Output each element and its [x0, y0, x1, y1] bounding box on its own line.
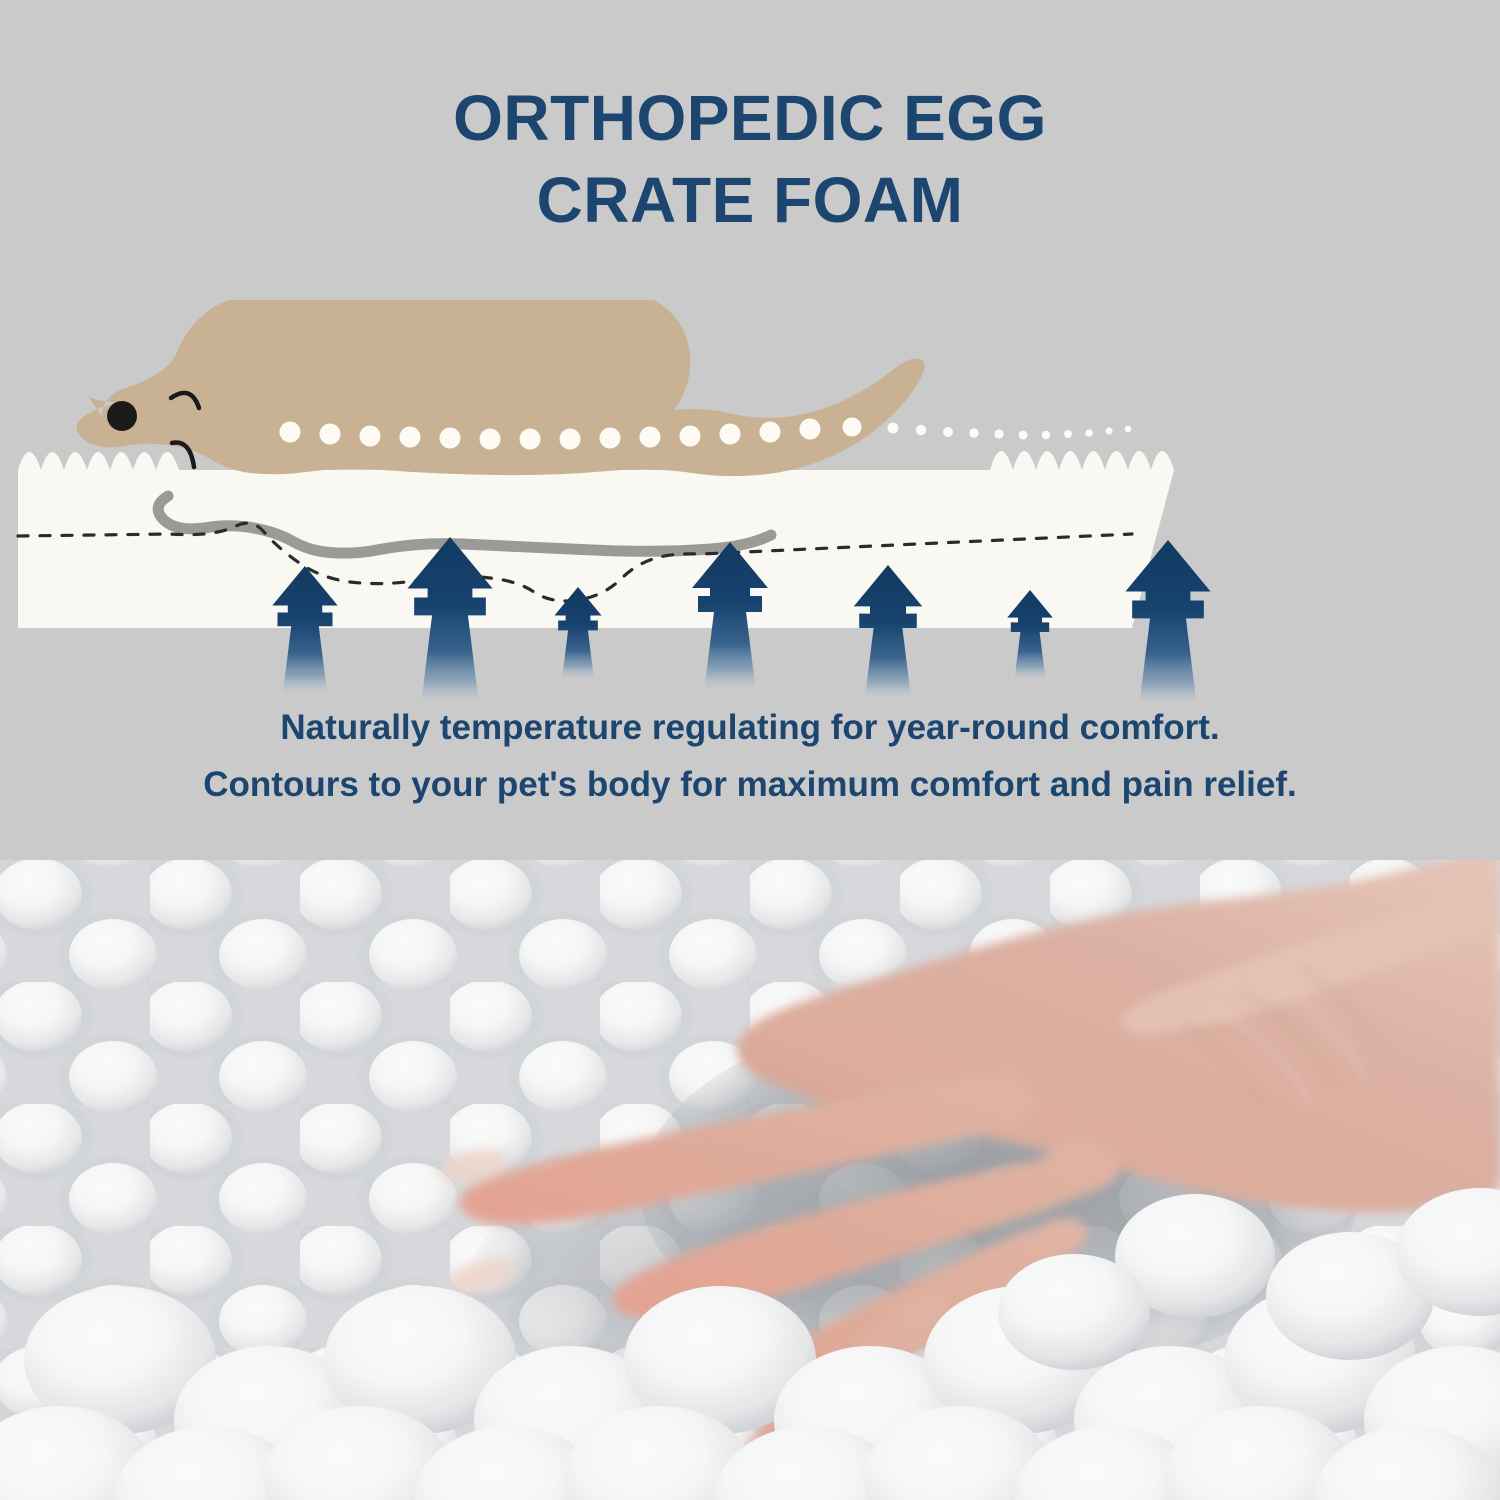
foam-photo: [0, 860, 1500, 1500]
foam-support-diagram: [0, 300, 1500, 700]
page-title: ORTHOPEDIC EGG CRATE FOAM: [0, 78, 1500, 242]
product-infographic: ORTHOPEDIC EGG CRATE FOAM: [0, 0, 1500, 1500]
page-title-line-2: CRATE FOAM: [0, 160, 1500, 242]
caption-line-2: Contours to your pet's body for maximum …: [0, 757, 1500, 814]
caption-line-1: Naturally temperature regulating for yea…: [0, 700, 1500, 757]
feature-captions: Naturally temperature regulating for yea…: [0, 700, 1500, 813]
page-title-line-1: ORTHOPEDIC EGG: [0, 78, 1500, 160]
dog-nose: [107, 401, 137, 431]
diagram-panel: ORTHOPEDIC EGG CRATE FOAM: [0, 0, 1500, 860]
